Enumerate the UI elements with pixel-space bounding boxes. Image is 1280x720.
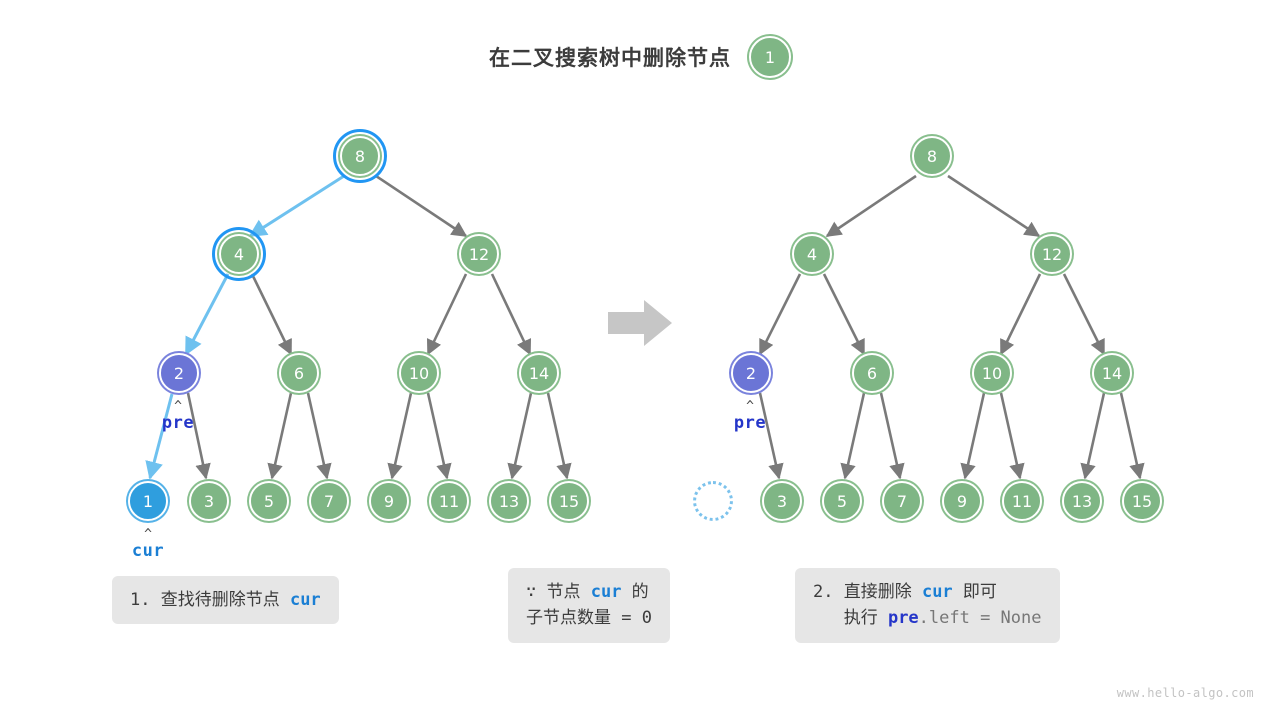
- caption-step-2: 2. 直接删除 cur 即可 执行 pre.left = None: [795, 568, 1060, 643]
- caption-text: 执行: [813, 608, 888, 628]
- tree-node[interactable]: 15: [1122, 481, 1162, 521]
- tree-node[interactable]: 9: [942, 481, 982, 521]
- tree-node[interactable]: 15: [549, 481, 589, 521]
- pointer-label: cur: [132, 541, 164, 561]
- tree-node[interactable]: 2: [731, 353, 771, 393]
- caption-text: 的: [621, 582, 648, 602]
- caret-icon: ^: [144, 530, 152, 539]
- caption-code: .left = None: [919, 608, 1042, 628]
- pointer-pre-right: ^ pre: [725, 402, 775, 433]
- transition-arrow-icon: [608, 298, 674, 348]
- keyword-pre: pre: [888, 608, 919, 628]
- tree-node[interactable]: 11: [1002, 481, 1042, 521]
- tree-node[interactable]: 9: [369, 481, 409, 521]
- tree-node[interactable]: 3: [762, 481, 802, 521]
- tree-node[interactable]: 10: [972, 353, 1012, 393]
- caption-text: 1. 查找待删除节点: [130, 590, 290, 610]
- tree-node[interactable]: 7: [309, 481, 349, 521]
- caption-reason: ∵ 节点 cur 的 子节点数量 = 0: [508, 568, 670, 643]
- pointer-pre-left: ^ pre: [153, 402, 203, 433]
- caret-icon: ^: [174, 402, 182, 411]
- tree-node[interactable]: 14: [519, 353, 559, 393]
- tree-node[interactable]: 7: [882, 481, 922, 521]
- watermark: www.hello-algo.com: [1117, 686, 1254, 700]
- caption-text: 子节点数量 = 0: [526, 608, 652, 628]
- caption-text: 2. 直接删除: [813, 582, 922, 602]
- tree-node[interactable]: 14: [1092, 353, 1132, 393]
- title-step-badge: 1: [749, 36, 791, 78]
- tree-node[interactable]: 3: [189, 481, 229, 521]
- tree-node[interactable]: 13: [1062, 481, 1102, 521]
- tree-node[interactable]: 1: [128, 481, 168, 521]
- pointer-label: pre: [734, 413, 766, 433]
- title-text: 在二叉搜索树中删除节点: [489, 42, 731, 72]
- caption-text: 即可: [953, 582, 997, 602]
- pointer-label: pre: [162, 413, 194, 433]
- tree-node[interactable]: 4: [219, 234, 259, 274]
- diagram-canvas: 在二叉搜索树中删除节点 1: [0, 0, 1280, 720]
- caption-step-1: 1. 查找待删除节点 cur: [112, 576, 339, 624]
- tree-node[interactable]: 13: [489, 481, 529, 521]
- tree-node[interactable]: 12: [459, 234, 499, 274]
- keyword-cur: cur: [290, 590, 321, 610]
- keyword-cur: cur: [591, 582, 622, 602]
- deleted-node-placeholder: [693, 481, 733, 521]
- tree-node[interactable]: 5: [249, 481, 289, 521]
- tree-node[interactable]: 8: [340, 136, 380, 176]
- tree-node[interactable]: 4: [792, 234, 832, 274]
- tree-node[interactable]: 10: [399, 353, 439, 393]
- caption-text: ∵ 节点: [526, 582, 591, 602]
- tree-node[interactable]: 11: [429, 481, 469, 521]
- tree-node[interactable]: 6: [852, 353, 892, 393]
- keyword-cur: cur: [922, 582, 953, 602]
- page-title: 在二叉搜索树中删除节点 1: [0, 36, 1280, 78]
- tree-node[interactable]: 2: [159, 353, 199, 393]
- pointer-cur-left: ^ cur: [123, 530, 173, 561]
- tree-node[interactable]: 5: [822, 481, 862, 521]
- tree-node[interactable]: 6: [279, 353, 319, 393]
- tree-node[interactable]: 8: [912, 136, 952, 176]
- caret-icon: ^: [746, 402, 754, 411]
- tree-node[interactable]: 12: [1032, 234, 1072, 274]
